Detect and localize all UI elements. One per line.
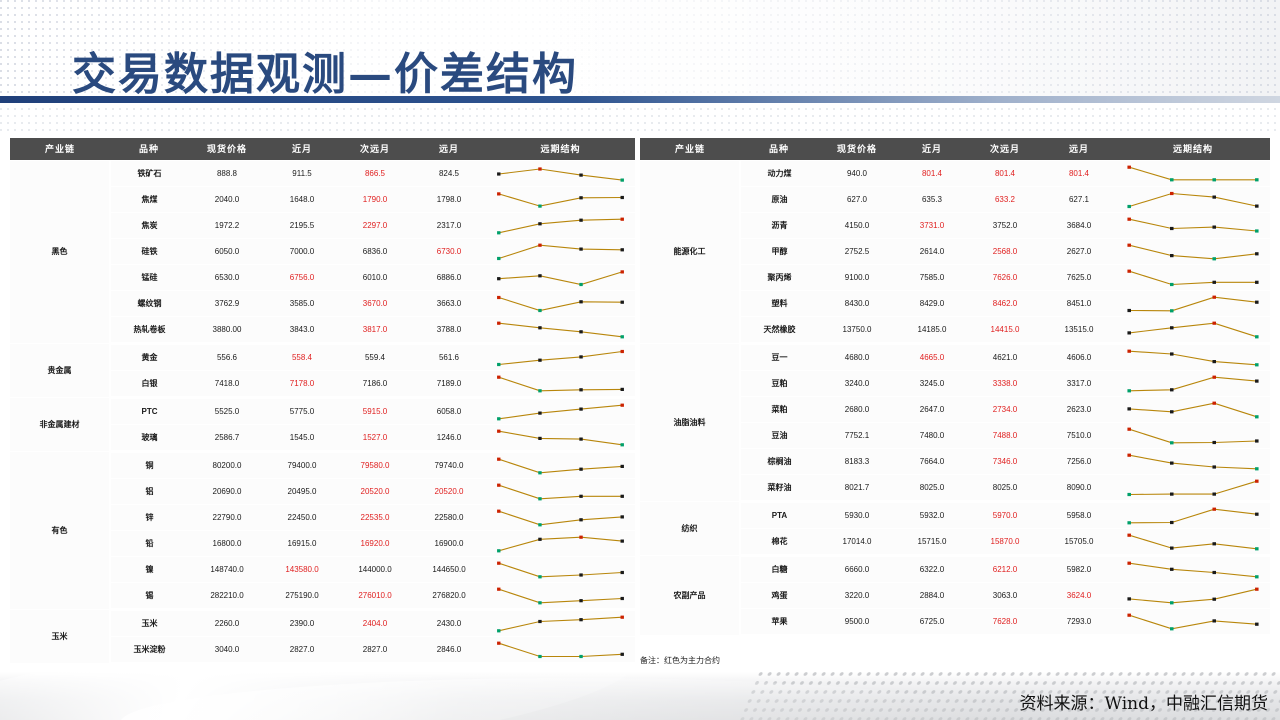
forward-curve-sparkline	[486, 238, 635, 264]
sub-far-month-cell: 7488.0	[968, 422, 1042, 448]
sub-far-month-cell: 5970.0	[968, 501, 1042, 528]
forward-curve-sparkline	[486, 636, 635, 663]
sub-far-month-cell: 3752.0	[968, 212, 1042, 238]
near-month-cell: 7664.0	[896, 448, 968, 474]
spot-price-cell: 5930.0	[818, 501, 896, 528]
forward-curve-sparkline	[486, 160, 635, 186]
forward-curve-sparkline	[1116, 474, 1270, 501]
industry-chain-cell: 油脂油料	[640, 343, 740, 501]
variety-cell: 玉米淀粉	[110, 636, 188, 663]
spot-price-cell: 17014.0	[818, 528, 896, 555]
sub-far-month-cell: 559.4	[338, 343, 412, 370]
sub-far-month-cell: 22535.0	[338, 504, 412, 530]
sub-far-month-cell: 7626.0	[968, 264, 1042, 290]
spot-price-cell: 9100.0	[818, 264, 896, 290]
sub-far-month-cell: 20520.0	[338, 478, 412, 504]
near-month-cell: 16915.0	[266, 530, 338, 556]
spot-price-cell: 2260.0	[188, 609, 266, 636]
near-month-cell: 2614.0	[896, 238, 968, 264]
spot-price-cell: 3240.0	[818, 370, 896, 396]
far-month-cell: 2623.0	[1042, 396, 1116, 422]
spot-price-cell: 6530.0	[188, 264, 266, 290]
forward-curve-sparkline	[486, 212, 635, 238]
sub-far-month-cell: 6010.0	[338, 264, 412, 290]
table-left-body: 黑色铁矿石888.8911.5866.5824.5焦煤2040.01648.01…	[10, 160, 635, 663]
far-month-cell: 7293.0	[1042, 608, 1116, 635]
far-month-cell: 824.5	[412, 160, 486, 186]
table-row[interactable]: 农副产品白糖6660.06322.06212.05982.0	[640, 555, 1270, 582]
variety-cell: 塑料	[740, 290, 818, 316]
forward-curve-sparkline	[486, 609, 635, 636]
forward-curve-sparkline	[1116, 582, 1270, 608]
column-header-far: 远月	[1042, 138, 1116, 160]
sub-far-month-cell: 14415.0	[968, 316, 1042, 343]
far-month-cell: 2317.0	[412, 212, 486, 238]
near-month-cell: 7585.0	[896, 264, 968, 290]
near-month-cell: 635.3	[896, 186, 968, 212]
variety-cell: 棕榈油	[740, 448, 818, 474]
near-month-cell: 6725.0	[896, 608, 968, 635]
spot-price-cell: 6660.0	[818, 555, 896, 582]
near-month-cell: 3245.0	[896, 370, 968, 396]
near-month-cell: 7178.0	[266, 370, 338, 397]
forward-curve-sparkline	[1116, 396, 1270, 422]
far-month-cell: 276820.0	[412, 582, 486, 609]
near-month-cell: 2827.0	[266, 636, 338, 663]
spot-price-cell: 2586.7	[188, 424, 266, 451]
forward-curve-sparkline	[1116, 528, 1270, 555]
variety-cell: 镍	[110, 556, 188, 582]
variety-cell: 硅铁	[110, 238, 188, 264]
spot-price-cell: 16800.0	[188, 530, 266, 556]
industry-chain-cell: 非金属建材	[10, 397, 110, 451]
forward-curve-sparkline	[1116, 343, 1270, 370]
variety-cell: 焦煤	[110, 186, 188, 212]
forward-curve-sparkline	[486, 582, 635, 609]
sub-far-month-cell: 276010.0	[338, 582, 412, 609]
variety-cell: 锡	[110, 582, 188, 609]
far-month-cell: 6886.0	[412, 264, 486, 290]
variety-cell: 螺纹钢	[110, 290, 188, 316]
forward-curve-sparkline	[486, 478, 635, 504]
sub-far-month-cell: 3817.0	[338, 316, 412, 343]
far-month-cell: 3663.0	[412, 290, 486, 316]
spot-price-cell: 7418.0	[188, 370, 266, 397]
near-month-cell: 3843.0	[266, 316, 338, 343]
sub-far-month-cell: 7628.0	[968, 608, 1042, 635]
forward-curve-sparkline	[486, 397, 635, 424]
variety-cell: 沥青	[740, 212, 818, 238]
spot-price-cell: 3762.9	[188, 290, 266, 316]
sub-far-month-cell: 2734.0	[968, 396, 1042, 422]
forward-curve-sparkline	[1116, 160, 1270, 186]
near-month-cell: 2884.0	[896, 582, 968, 608]
variety-cell: 鸡蛋	[740, 582, 818, 608]
far-month-cell: 4606.0	[1042, 343, 1116, 370]
column-header-curve: 远期结构	[1116, 138, 1270, 160]
far-month-cell: 79740.0	[412, 451, 486, 478]
variety-cell: 铜	[110, 451, 188, 478]
column-header-near: 近月	[266, 138, 338, 160]
spot-price-cell: 7752.1	[818, 422, 896, 448]
column-header-mid: 次远月	[338, 138, 412, 160]
sub-far-month-cell: 2404.0	[338, 609, 412, 636]
far-month-cell: 3684.0	[1042, 212, 1116, 238]
spot-price-cell: 627.0	[818, 186, 896, 212]
near-month-cell: 8025.0	[896, 474, 968, 501]
near-month-cell: 3731.0	[896, 212, 968, 238]
variety-cell: 甲醇	[740, 238, 818, 264]
forward-curve-sparkline	[1116, 212, 1270, 238]
table-header-row: 产业链 品种 现货价格 近月 次远月 远月 远期结构	[640, 138, 1270, 160]
far-month-cell: 5982.0	[1042, 555, 1116, 582]
variety-cell: 白银	[110, 370, 188, 397]
near-month-cell: 2647.0	[896, 396, 968, 422]
industry-chain-cell: 有色	[10, 451, 110, 609]
forward-curve-sparkline	[486, 556, 635, 582]
forward-curve-sparkline	[1116, 555, 1270, 582]
column-header-curve: 远期结构	[486, 138, 635, 160]
forward-curve-sparkline	[1116, 290, 1270, 316]
near-month-cell: 8429.0	[896, 290, 968, 316]
near-month-cell: 22450.0	[266, 504, 338, 530]
forward-curve-sparkline	[1116, 608, 1270, 635]
sub-far-month-cell: 2568.0	[968, 238, 1042, 264]
sub-far-month-cell: 2297.0	[338, 212, 412, 238]
forward-curve-sparkline	[1116, 448, 1270, 474]
spot-price-cell: 1972.2	[188, 212, 266, 238]
industry-chain-cell: 黑色	[10, 160, 110, 343]
far-month-cell: 6730.0	[412, 238, 486, 264]
far-month-cell: 20520.0	[412, 478, 486, 504]
industry-chain-cell: 农副产品	[640, 555, 740, 635]
column-header-chain: 产业链	[10, 138, 110, 160]
forward-curve-sparkline	[1116, 264, 1270, 290]
sub-far-month-cell: 2827.0	[338, 636, 412, 663]
variety-cell: 铁矿石	[110, 160, 188, 186]
near-month-cell: 6322.0	[896, 555, 968, 582]
spot-price-cell: 3880.00	[188, 316, 266, 343]
right-price-structure-table: 产业链 品种 现货价格 近月 次远月 远月 远期结构 能源化工动力煤940.08…	[640, 138, 1270, 637]
table-right: 产业链 品种 现货价格 近月 次远月 远月 远期结构 能源化工动力煤940.08…	[640, 138, 1270, 637]
variety-cell: 铝	[110, 478, 188, 504]
column-header-near: 近月	[896, 138, 968, 160]
spot-price-cell: 3040.0	[188, 636, 266, 663]
table-row[interactable]: 油脂油料豆一4680.04665.04621.04606.0	[640, 343, 1270, 370]
variety-cell: 豆油	[740, 422, 818, 448]
variety-cell: 焦炭	[110, 212, 188, 238]
sub-far-month-cell: 1790.0	[338, 186, 412, 212]
variety-cell: 黄金	[110, 343, 188, 370]
sub-far-month-cell: 7346.0	[968, 448, 1042, 474]
forward-curve-sparkline	[1116, 186, 1270, 212]
spot-price-cell: 2040.0	[188, 186, 266, 212]
far-month-cell: 3624.0	[1042, 582, 1116, 608]
near-month-cell: 801.4	[896, 160, 968, 186]
sub-far-month-cell: 8462.0	[968, 290, 1042, 316]
far-month-cell: 8451.0	[1042, 290, 1116, 316]
column-header-spot: 现货价格	[818, 138, 896, 160]
sub-far-month-cell: 79580.0	[338, 451, 412, 478]
near-month-cell: 2390.0	[266, 609, 338, 636]
far-month-cell: 2430.0	[412, 609, 486, 636]
far-month-cell: 1798.0	[412, 186, 486, 212]
near-month-cell: 911.5	[266, 160, 338, 186]
far-month-cell: 1246.0	[412, 424, 486, 451]
sub-far-month-cell: 7186.0	[338, 370, 412, 397]
far-month-cell: 561.6	[412, 343, 486, 370]
column-header-mid: 次远月	[968, 138, 1042, 160]
spot-price-cell: 2752.5	[818, 238, 896, 264]
sub-far-month-cell: 4621.0	[968, 343, 1042, 370]
near-month-cell: 20495.0	[266, 478, 338, 504]
sub-far-month-cell: 3063.0	[968, 582, 1042, 608]
sub-far-month-cell: 3338.0	[968, 370, 1042, 396]
forward-curve-sparkline	[1116, 501, 1270, 528]
far-month-cell: 8090.0	[1042, 474, 1116, 501]
table-right-body: 能源化工动力煤940.0801.4801.4801.4原油627.0635.36…	[640, 160, 1270, 635]
page-title: 交易数据观测—价差结构	[72, 38, 578, 102]
spot-price-cell: 148740.0	[188, 556, 266, 582]
forward-curve-sparkline	[1116, 316, 1270, 343]
variety-cell: 棉花	[740, 528, 818, 555]
forward-curve-sparkline	[486, 343, 635, 370]
far-month-cell: 6058.0	[412, 397, 486, 424]
near-month-cell: 2195.5	[266, 212, 338, 238]
near-month-cell: 1648.0	[266, 186, 338, 212]
far-month-cell: 7256.0	[1042, 448, 1116, 474]
far-month-cell: 7189.0	[412, 370, 486, 397]
spot-price-cell: 888.8	[188, 160, 266, 186]
forward-curve-sparkline	[486, 504, 635, 530]
variety-cell: 天然橡胶	[740, 316, 818, 343]
sub-far-month-cell: 144000.0	[338, 556, 412, 582]
table-row[interactable]: 有色铜80200.079400.079580.079740.0	[10, 451, 635, 478]
near-month-cell: 7000.0	[266, 238, 338, 264]
near-month-cell: 5775.0	[266, 397, 338, 424]
sub-far-month-cell: 1527.0	[338, 424, 412, 451]
table-header-row: 产业链 品种 现货价格 近月 次远月 远月 远期结构	[10, 138, 635, 160]
near-month-cell: 15715.0	[896, 528, 968, 555]
near-month-cell: 5932.0	[896, 501, 968, 528]
near-month-cell: 1545.0	[266, 424, 338, 451]
forward-curve-sparkline	[486, 451, 635, 478]
variety-cell: PTC	[110, 397, 188, 424]
industry-chain-cell: 纺织	[640, 501, 740, 555]
spot-price-cell: 940.0	[818, 160, 896, 186]
near-month-cell: 4665.0	[896, 343, 968, 370]
spot-price-cell: 6050.0	[188, 238, 266, 264]
forward-curve-sparkline	[486, 186, 635, 212]
spot-price-cell: 20690.0	[188, 478, 266, 504]
spot-price-cell: 8021.7	[818, 474, 896, 501]
variety-cell: 白糖	[740, 555, 818, 582]
variety-cell: 菜粕	[740, 396, 818, 422]
forward-curve-sparkline	[486, 290, 635, 316]
sub-far-month-cell: 15870.0	[968, 528, 1042, 555]
variety-cell: 苹果	[740, 608, 818, 635]
spot-price-cell: 80200.0	[188, 451, 266, 478]
spot-price-cell: 8183.3	[818, 448, 896, 474]
spot-price-cell: 22790.0	[188, 504, 266, 530]
variety-cell: 锰硅	[110, 264, 188, 290]
column-header-far: 远月	[412, 138, 486, 160]
left-price-structure-table: 产业链 品种 现货价格 近月 次远月 远月 远期结构 黑色铁矿石888.8911…	[10, 138, 635, 665]
forward-curve-sparkline	[1116, 422, 1270, 448]
far-month-cell: 3317.0	[1042, 370, 1116, 396]
table-row[interactable]: 黑色铁矿石888.8911.5866.5824.5	[10, 160, 635, 186]
sub-far-month-cell: 6212.0	[968, 555, 1042, 582]
near-month-cell: 14185.0	[896, 316, 968, 343]
far-month-cell: 2627.0	[1042, 238, 1116, 264]
table-row[interactable]: 能源化工动力煤940.0801.4801.4801.4	[640, 160, 1270, 186]
legend-note: 备注：红色为主力合约	[640, 655, 720, 666]
table-row[interactable]: 非金属建材PTC5525.05775.05915.06058.0	[10, 397, 635, 424]
title-band-lower-dots	[0, 108, 1280, 134]
far-month-cell: 144650.0	[412, 556, 486, 582]
near-month-cell: 558.4	[266, 343, 338, 370]
column-header-variety: 品种	[740, 138, 818, 160]
column-header-chain: 产业链	[640, 138, 740, 160]
sub-far-month-cell: 6836.0	[338, 238, 412, 264]
near-month-cell: 79400.0	[266, 451, 338, 478]
sub-far-month-cell: 801.4	[968, 160, 1042, 186]
far-month-cell: 7625.0	[1042, 264, 1116, 290]
far-month-cell: 3788.0	[412, 316, 486, 343]
forward-curve-sparkline	[486, 530, 635, 556]
column-header-spot: 现货价格	[188, 138, 266, 160]
spot-price-cell: 2680.0	[818, 396, 896, 422]
variety-cell: 铅	[110, 530, 188, 556]
variety-cell: 豆粕	[740, 370, 818, 396]
variety-cell: PTA	[740, 501, 818, 528]
far-month-cell: 627.1	[1042, 186, 1116, 212]
spot-price-cell: 5525.0	[188, 397, 266, 424]
far-month-cell: 13515.0	[1042, 316, 1116, 343]
source-citation: 资料来源：Wind，中融汇信期货	[1020, 689, 1268, 714]
far-month-cell: 15705.0	[1042, 528, 1116, 555]
table-row[interactable]: 纺织PTA5930.05932.05970.05958.0	[640, 501, 1270, 528]
industry-chain-cell: 贵金属	[10, 343, 110, 397]
forward-curve-sparkline	[486, 370, 635, 397]
variety-cell: 豆一	[740, 343, 818, 370]
near-month-cell: 7480.0	[896, 422, 968, 448]
spot-price-cell: 282210.0	[188, 582, 266, 609]
near-month-cell: 6756.0	[266, 264, 338, 290]
spot-price-cell: 3220.0	[818, 582, 896, 608]
table-left: 产业链 品种 现货价格 近月 次远月 远月 远期结构 黑色铁矿石888.8911…	[10, 138, 635, 665]
forward-curve-sparkline	[1116, 238, 1270, 264]
variety-cell: 玉米	[110, 609, 188, 636]
spot-price-cell: 9500.0	[818, 608, 896, 635]
forward-curve-sparkline	[486, 316, 635, 343]
spot-price-cell: 13750.0	[818, 316, 896, 343]
sub-far-month-cell: 16920.0	[338, 530, 412, 556]
industry-chain-cell: 玉米	[10, 609, 110, 663]
table-row[interactable]: 贵金属黄金556.6558.4559.4561.6	[10, 343, 635, 370]
sub-far-month-cell: 3670.0	[338, 290, 412, 316]
sub-far-month-cell: 633.2	[968, 186, 1042, 212]
far-month-cell: 2846.0	[412, 636, 486, 663]
far-month-cell: 16900.0	[412, 530, 486, 556]
far-month-cell: 801.4	[1042, 160, 1116, 186]
variety-cell: 玻璃	[110, 424, 188, 451]
sub-far-month-cell: 5915.0	[338, 397, 412, 424]
column-header-variety: 品种	[110, 138, 188, 160]
spot-price-cell: 4680.0	[818, 343, 896, 370]
variety-cell: 聚丙烯	[740, 264, 818, 290]
variety-cell: 菜籽油	[740, 474, 818, 501]
near-month-cell: 275190.0	[266, 582, 338, 609]
variety-cell: 原油	[740, 186, 818, 212]
forward-curve-sparkline	[1116, 370, 1270, 396]
table-row[interactable]: 玉米玉米2260.02390.02404.02430.0	[10, 609, 635, 636]
far-month-cell: 7510.0	[1042, 422, 1116, 448]
spot-price-cell: 556.6	[188, 343, 266, 370]
far-month-cell: 5958.0	[1042, 501, 1116, 528]
variety-cell: 动力煤	[740, 160, 818, 186]
industry-chain-cell: 能源化工	[640, 160, 740, 343]
near-month-cell: 143580.0	[266, 556, 338, 582]
forward-curve-sparkline	[486, 264, 635, 290]
variety-cell: 锌	[110, 504, 188, 530]
far-month-cell: 22580.0	[412, 504, 486, 530]
sub-far-month-cell: 866.5	[338, 160, 412, 186]
forward-curve-sparkline	[486, 424, 635, 451]
variety-cell: 热轧卷板	[110, 316, 188, 343]
spot-price-cell: 4150.0	[818, 212, 896, 238]
spot-price-cell: 8430.0	[818, 290, 896, 316]
sub-far-month-cell: 8025.0	[968, 474, 1042, 501]
near-month-cell: 3585.0	[266, 290, 338, 316]
